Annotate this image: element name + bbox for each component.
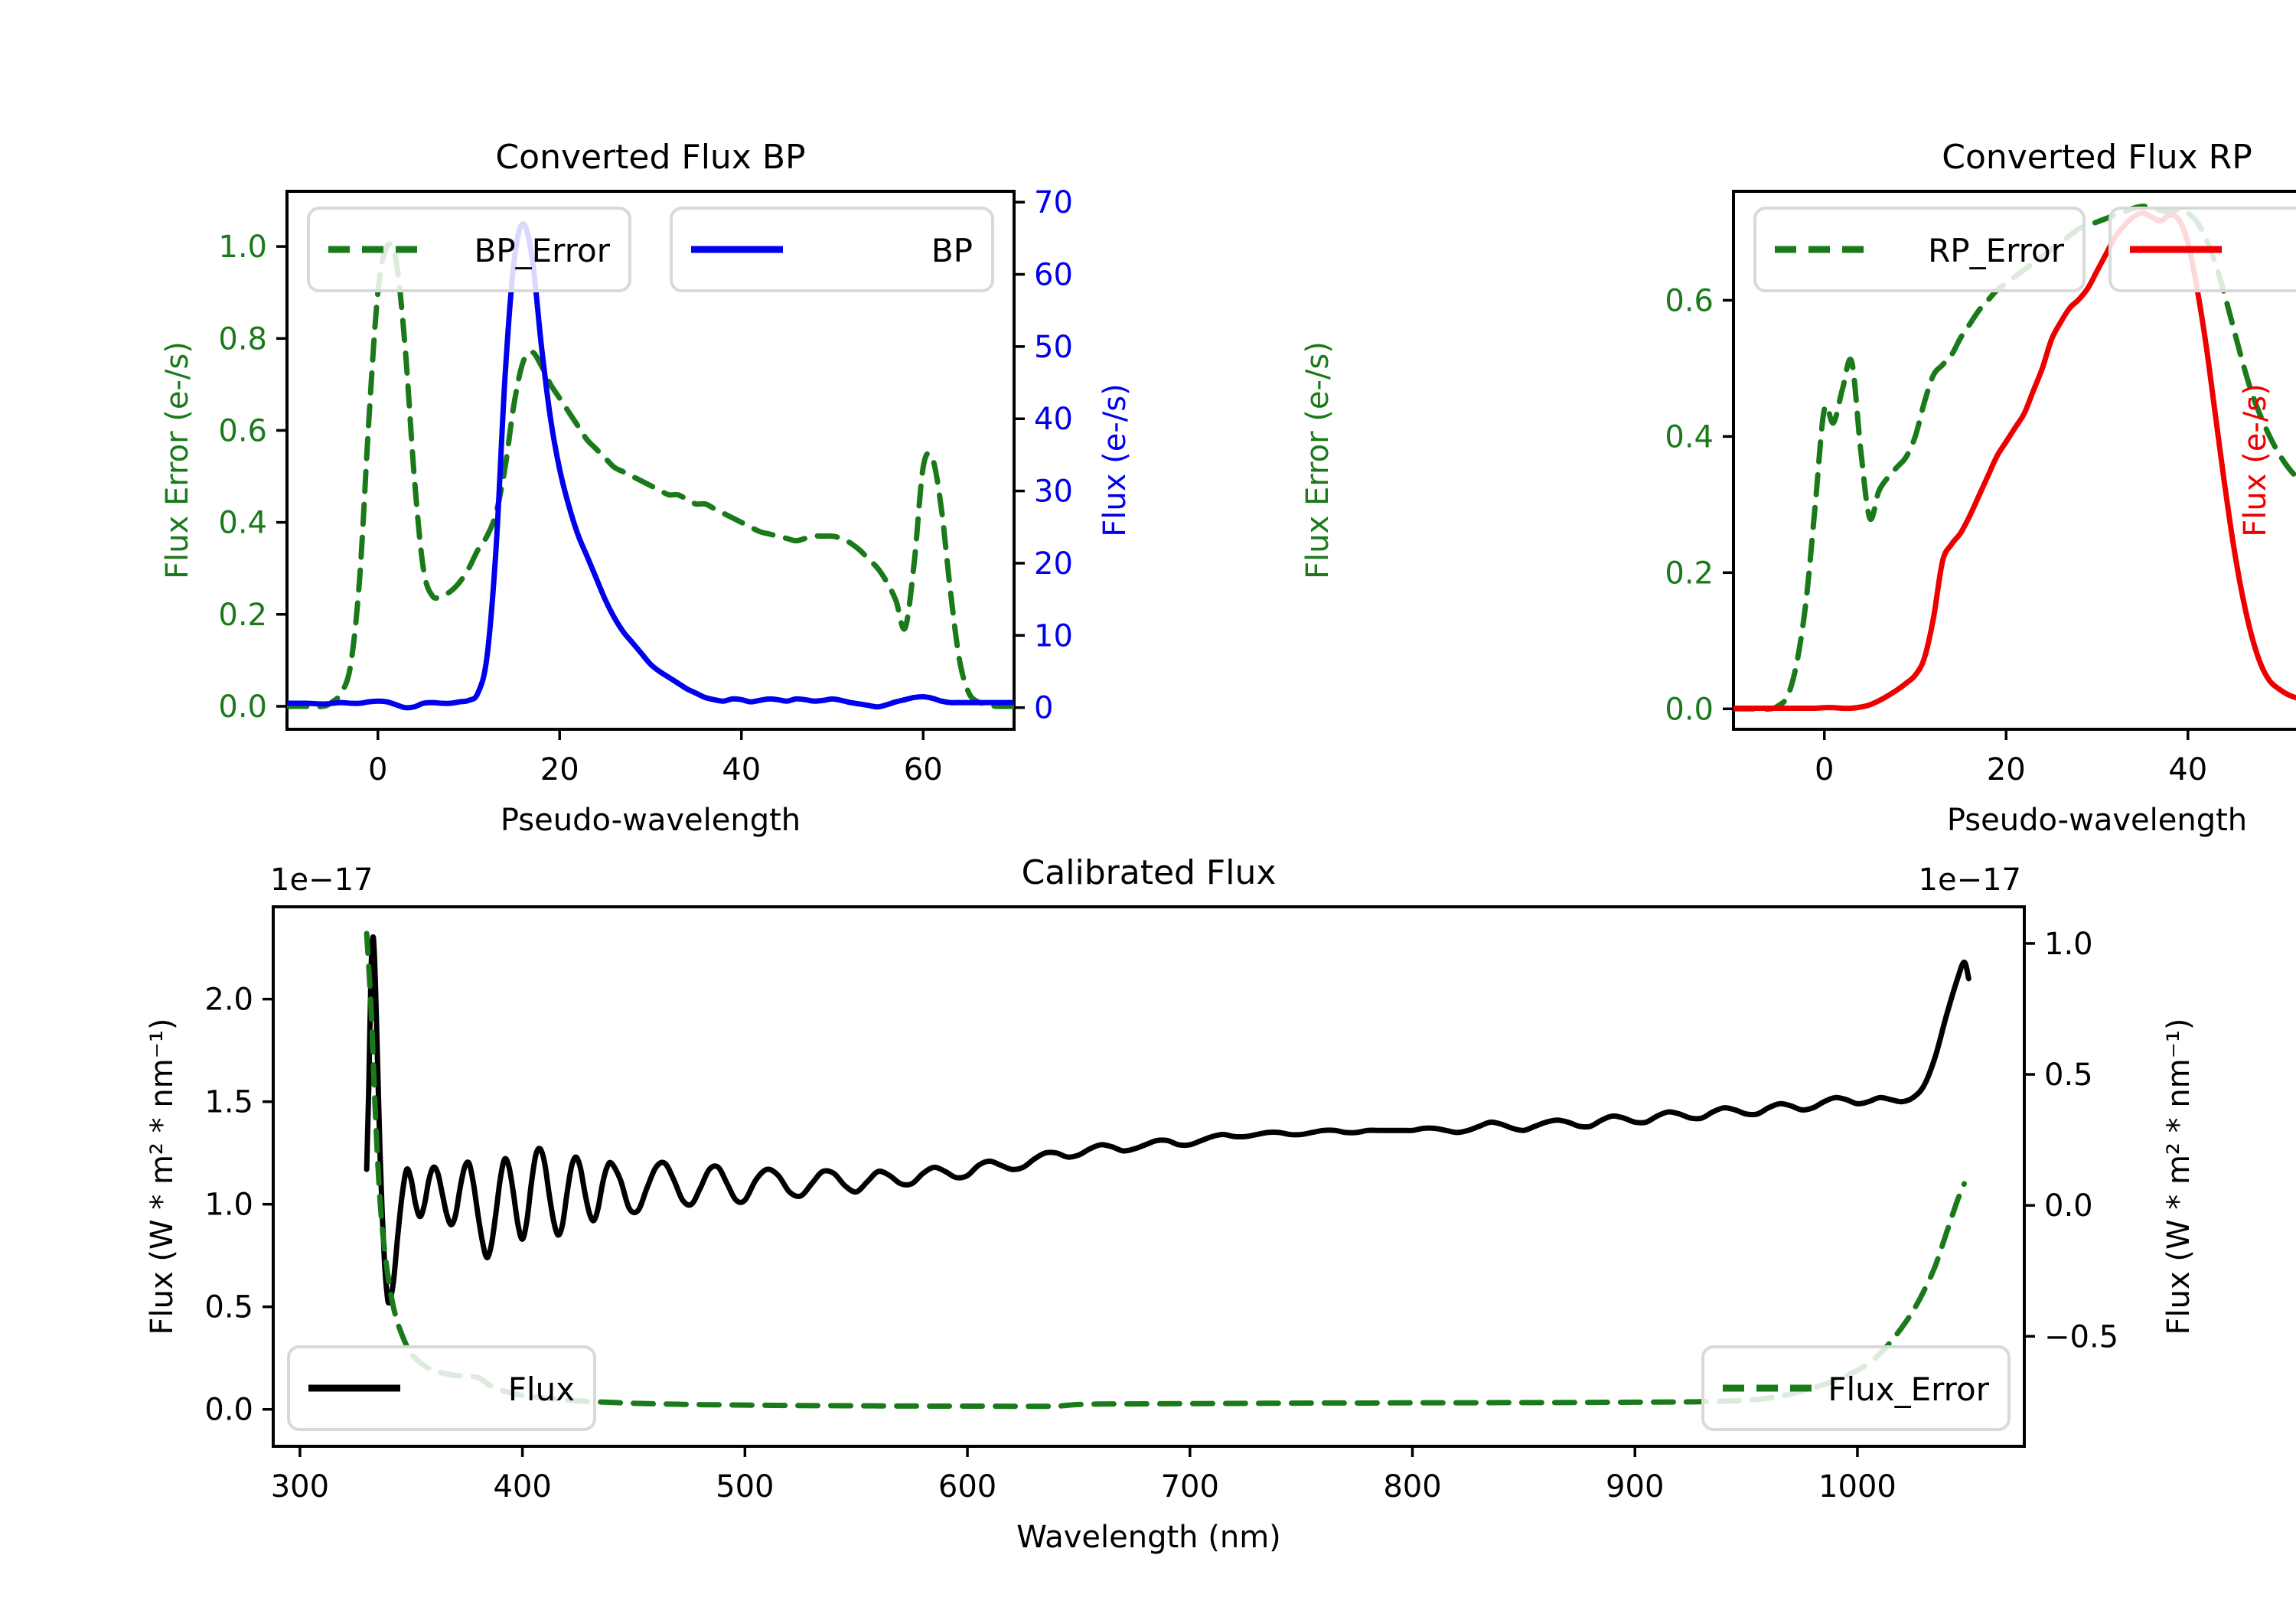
y-tick-label-right: 40	[1034, 402, 1073, 437]
y-tick-label-right: −0.5	[2044, 1319, 2118, 1354]
x-tick-label: 20	[1987, 752, 2026, 787]
subplot-calibrated-flux: Calibrated Flux1e−171e−17300400500600700…	[0, 811, 2296, 1607]
y-tick-label-left: 0.0	[1665, 692, 1714, 727]
x-tick-label: 800	[1383, 1469, 1441, 1504]
y-tick-label-left: 0.8	[218, 321, 267, 357]
x-tick-label: 20	[540, 752, 579, 787]
y-tick-label-left: 1.0	[218, 230, 267, 265]
x-tick-label: 600	[938, 1469, 996, 1504]
x-tick-label: 1000	[1818, 1469, 1896, 1504]
series-bp-error	[287, 244, 1014, 707]
series-bp	[287, 223, 1014, 707]
y-tick-label-left: 0.5	[204, 1290, 253, 1325]
x-tick-label: 0	[368, 752, 387, 787]
legend-rp-error: RP_Error	[1755, 208, 2084, 291]
legend-label: Flux_Error	[1828, 1371, 1989, 1408]
plot-area	[287, 223, 1014, 707]
x-tick-label: 40	[722, 752, 761, 787]
chart-title: Converted Flux BP	[495, 138, 805, 177]
y-tick-label-left: 0.2	[218, 598, 267, 633]
y-tick-label-right: 0	[1034, 691, 1053, 726]
legend-bp: BP	[671, 208, 993, 291]
y-tick-label-left: 0.6	[218, 413, 267, 448]
x-tick-label: 300	[271, 1469, 329, 1504]
subplot-converted-flux-rp: Converted Flux RP0204060Pseudo-wavelengt…	[1148, 0, 2296, 811]
y-axis-label-left: Flux Error (e-/s)	[160, 341, 195, 579]
y-tick-label-left: 1.0	[204, 1188, 253, 1223]
legend-bp-error: BP_Error	[308, 208, 630, 291]
series-flux	[367, 937, 1968, 1302]
y-axis-label-left: Flux Error (e-/s)	[1300, 341, 1336, 579]
y-tick-label-left: 2.0	[204, 983, 253, 1018]
y-axis-label-right: Flux (e-/s)	[2238, 383, 2273, 536]
x-axis-label: Wavelength (nm)	[1016, 1520, 1281, 1555]
y-tick-label-right: 10	[1034, 618, 1073, 654]
y-axis-label-left: Flux (W * m² * nm⁻¹)	[145, 1019, 180, 1335]
chart-calibrated: Calibrated Flux1e−171e−17300400500600700…	[0, 811, 2296, 1607]
y-tick-label-left: 1.5	[204, 1085, 253, 1120]
y-tick-label-left: 0.4	[1665, 419, 1714, 455]
x-tick-label: 0	[1815, 752, 1834, 787]
y-axis-label-right: Flux (e-/s)	[1097, 383, 1133, 536]
legend-flux-error: Flux_Error	[1703, 1347, 2009, 1429]
x-tick-label: 400	[493, 1469, 551, 1504]
legend-label: BP	[931, 232, 973, 269]
x-tick-label: 40	[2168, 752, 2207, 787]
y-tick-label-left: 0.0	[204, 1393, 253, 1428]
y-tick-label-left: 0.6	[1665, 283, 1714, 318]
legend-flux: Flux	[289, 1347, 595, 1429]
y-tick-label-right: 20	[1034, 546, 1073, 582]
y-tick-label-right: 70	[1034, 185, 1073, 220]
y-tick-label-right: 50	[1034, 330, 1073, 365]
x-tick-label: 700	[1161, 1469, 1219, 1504]
legend-label: BP_Error	[474, 232, 610, 269]
plot-area	[367, 934, 1968, 1407]
chart-title: Calibrated Flux	[1022, 853, 1277, 892]
y-tick-label-right: 0.5	[2044, 1058, 2093, 1093]
chart-title: Converted Flux RP	[1942, 138, 2252, 177]
y-tick-label-right: 60	[1034, 258, 1073, 293]
y-tick-label-right: 0.0	[2044, 1188, 2093, 1224]
y-tick-label-right: 30	[1034, 474, 1073, 510]
figure-canvas: Converted Flux BP0204060Pseudo-wavelengt…	[0, 0, 2296, 1607]
x-tick-label: 500	[716, 1469, 774, 1504]
y-tick-label-left: 0.0	[218, 689, 267, 725]
legend-label: RP_Error	[1928, 232, 2065, 269]
legend-label: Flux	[508, 1371, 575, 1408]
y-tick-label-left: 0.4	[218, 506, 267, 541]
x-tick-label: 60	[904, 752, 943, 787]
y-axis-label-right: Flux (W * m² * nm⁻¹)	[2161, 1019, 2197, 1335]
right-axis-offset-label: 1e−17	[1919, 862, 2021, 898]
y-tick-label-right: 1.0	[2044, 927, 2093, 962]
x-tick-label: 900	[1606, 1469, 1664, 1504]
y-tick-label-left: 0.2	[1665, 556, 1714, 591]
subplot-converted-flux-bp: Converted Flux BP0204060Pseudo-wavelengt…	[0, 0, 1148, 811]
legend-rp: RP	[2110, 208, 2296, 291]
left-axis-offset-label: 1e−17	[270, 862, 373, 898]
chart-rp: Converted Flux RP0204060Pseudo-wavelengt…	[1148, 0, 2296, 811]
chart-bp: Converted Flux BP0204060Pseudo-wavelengt…	[0, 0, 1148, 811]
